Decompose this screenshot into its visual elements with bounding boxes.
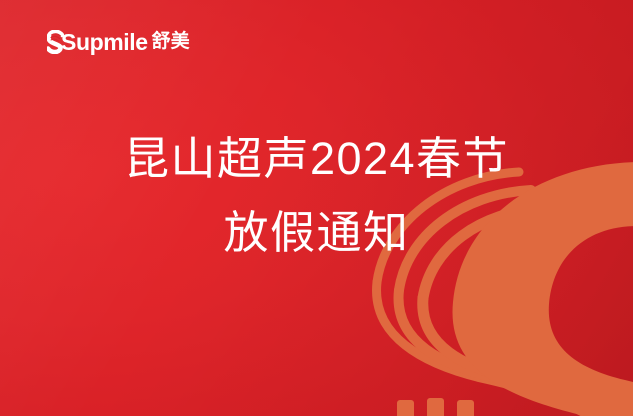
logo-wordmark: Supmile — [61, 30, 148, 54]
logo-chinese-name: 舒美 — [152, 30, 190, 54]
supmile-s-mark-icon — [47, 30, 64, 54]
title-line-1: 昆山超声2024春节 — [0, 122, 633, 196]
supmile-logo[interactable]: Supmile 舒美 — [47, 28, 190, 56]
title-line-2: 放假通知 — [0, 196, 633, 270]
page-title: 昆山超声2024春节 放假通知 — [0, 122, 633, 270]
holiday-notice-banner: Supmile 舒美 昆山超声2024春节 放假通知 — [0, 0, 633, 416]
